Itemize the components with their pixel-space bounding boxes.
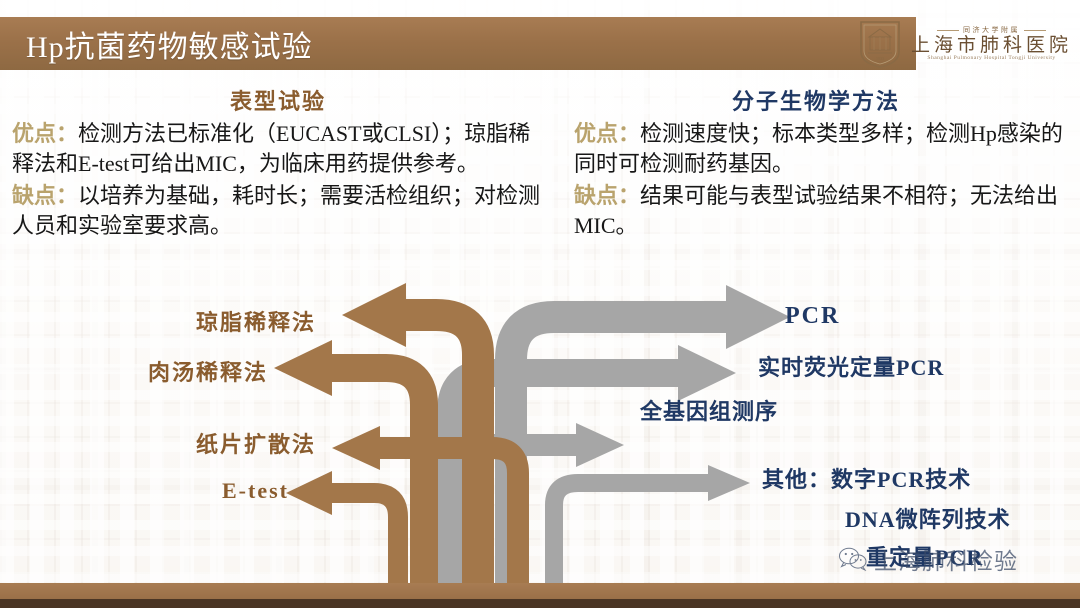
logo-english-name: Shanghai Pulmonary Hospital Tongji Unive… bbox=[927, 56, 1055, 62]
wechat-icon bbox=[838, 547, 868, 571]
column-phenotypic: 表型试验 优点：检测方法已标准化（EUCAST或CLSI）；琼脂稀释法和E-te… bbox=[8, 84, 548, 242]
right-pros-paragraph: 优点：检测速度快；标本类型多样；检测Hp感染的同时可检测耐药基因。 bbox=[560, 119, 1072, 180]
footer-bar bbox=[0, 583, 1080, 599]
logo-chinese-name: 上海市肺科医院 bbox=[911, 36, 1072, 55]
column-left-heading: 表型试验 bbox=[8, 84, 548, 116]
logo-rule-right bbox=[1024, 30, 1046, 31]
watermark-text: 上海肺科检验 bbox=[874, 542, 1018, 576]
wechat-watermark: 上海肺科检验 bbox=[838, 542, 1018, 576]
label-realtime-qpcr: 实时荧光定量PCR bbox=[758, 350, 944, 382]
label-whole-genome-sequencing: 全基因组测序 bbox=[640, 394, 778, 426]
logo-affiliation: 同济大学附属 bbox=[963, 27, 1020, 34]
label-broth-dilution: 肉汤稀释法 bbox=[148, 355, 268, 387]
left-pros-text: 检测方法已标准化（EUCAST或CLSI）；琼脂稀释法和E-test可给出MIC… bbox=[12, 121, 530, 176]
label-pcr: PCR bbox=[785, 303, 840, 330]
logo-text-block: 同济大学附属 上海市肺科医院 Shanghai Pulmonary Hospit… bbox=[911, 27, 1072, 62]
left-cons-label: 缺点： bbox=[12, 183, 78, 208]
left-cons-text: 以培养为基础，耗时长；需要活检组织；对检测人员和实验室要求高。 bbox=[12, 183, 540, 238]
footer-strip bbox=[0, 599, 1080, 608]
label-agar-dilution: 琼脂稀释法 bbox=[196, 305, 316, 337]
shield-crest-icon: 1933 bbox=[858, 19, 902, 69]
left-pros-paragraph: 优点：检测方法已标准化（EUCAST或CLSI）；琼脂稀释法和E-test可给出… bbox=[8, 119, 548, 180]
left-pros-label: 优点： bbox=[12, 121, 78, 146]
column-right-heading: 分子生物学方法 bbox=[560, 84, 1072, 116]
logo-rule-left bbox=[937, 30, 959, 31]
label-other-digital-pcr: 其他：数字PCR技术 bbox=[762, 462, 971, 494]
right-cons-text: 结果可能与表型试验结果不相符；无法给出MIC。 bbox=[574, 183, 1058, 238]
page-title: Hp抗菌药物敏感试验 bbox=[0, 22, 313, 66]
label-etest: E-test bbox=[222, 478, 289, 504]
svg-text:1933: 1933 bbox=[876, 56, 884, 61]
right-pros-text: 检测速度快；标本类型多样；检测Hp感染的同时可检测耐药基因。 bbox=[574, 121, 1063, 176]
slide-root: Hp抗菌药物敏感试验 1933 同济大学附属 上海市肺科医院 Shanghai … bbox=[0, 0, 1080, 608]
label-disk-diffusion: 纸片扩散法 bbox=[196, 427, 316, 459]
right-cons-label: 缺点： bbox=[574, 183, 640, 208]
right-pros-label: 优点： bbox=[574, 121, 640, 146]
header-banner: Hp抗菌药物敏感试验 bbox=[0, 17, 916, 70]
label-dna-microarray: DNA微阵列技术 bbox=[845, 502, 1011, 534]
left-cons-paragraph: 缺点：以培养为基础，耗时长；需要活检组织；对检测人员和实验室要求高。 bbox=[8, 181, 548, 242]
hospital-logo: 1933 同济大学附属 上海市肺科医院 Shanghai Pulmonary H… bbox=[858, 16, 1066, 72]
right-cons-paragraph: 缺点：结果可能与表型试验结果不相符；无法给出MIC。 bbox=[560, 181, 1072, 242]
column-molecular: 分子生物学方法 优点：检测速度快；标本类型多样；检测Hp感染的同时可检测耐药基因… bbox=[560, 84, 1072, 242]
logo-affiliation-row: 同济大学附属 bbox=[937, 27, 1046, 34]
